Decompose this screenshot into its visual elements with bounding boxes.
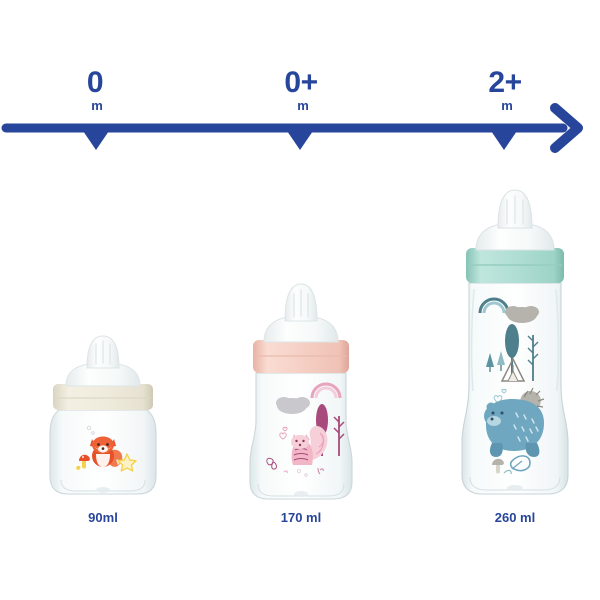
bottle-170ml[interactable]: 170 ml <box>236 270 366 510</box>
bottle-base-dimple <box>294 491 308 497</box>
bottle-90ml-illustration <box>28 330 178 505</box>
bottle-base-dimple <box>507 485 523 491</box>
bottle-base-dimple <box>96 487 110 493</box>
bottle-170ml-illustration <box>236 270 366 505</box>
timeline-marker-2plus-m-icon <box>489 128 519 150</box>
bottle-170ml-capacity-label: 170 ml <box>236 510 366 525</box>
bottle-90ml[interactable]: 90ml <box>28 330 178 510</box>
bottle-90ml-capacity-label: 90ml <box>28 510 178 525</box>
bottle-260ml-illustration <box>450 185 580 505</box>
timeline-marker-0plus-m-icon <box>285 128 315 150</box>
age-timeline: 0m 0+m 2+m <box>0 0 600 170</box>
bottle-260ml[interactable]: 260 ml <box>450 185 580 510</box>
product-size-comparison-graphic: 0m 0+m 2+m <box>0 0 600 600</box>
bottle-260ml-capacity-label: 260 ml <box>450 510 580 525</box>
timeline-marker-0m-icon <box>81 128 111 150</box>
timeline-arrow-svg <box>0 0 600 170</box>
bottle-collar <box>53 384 153 410</box>
